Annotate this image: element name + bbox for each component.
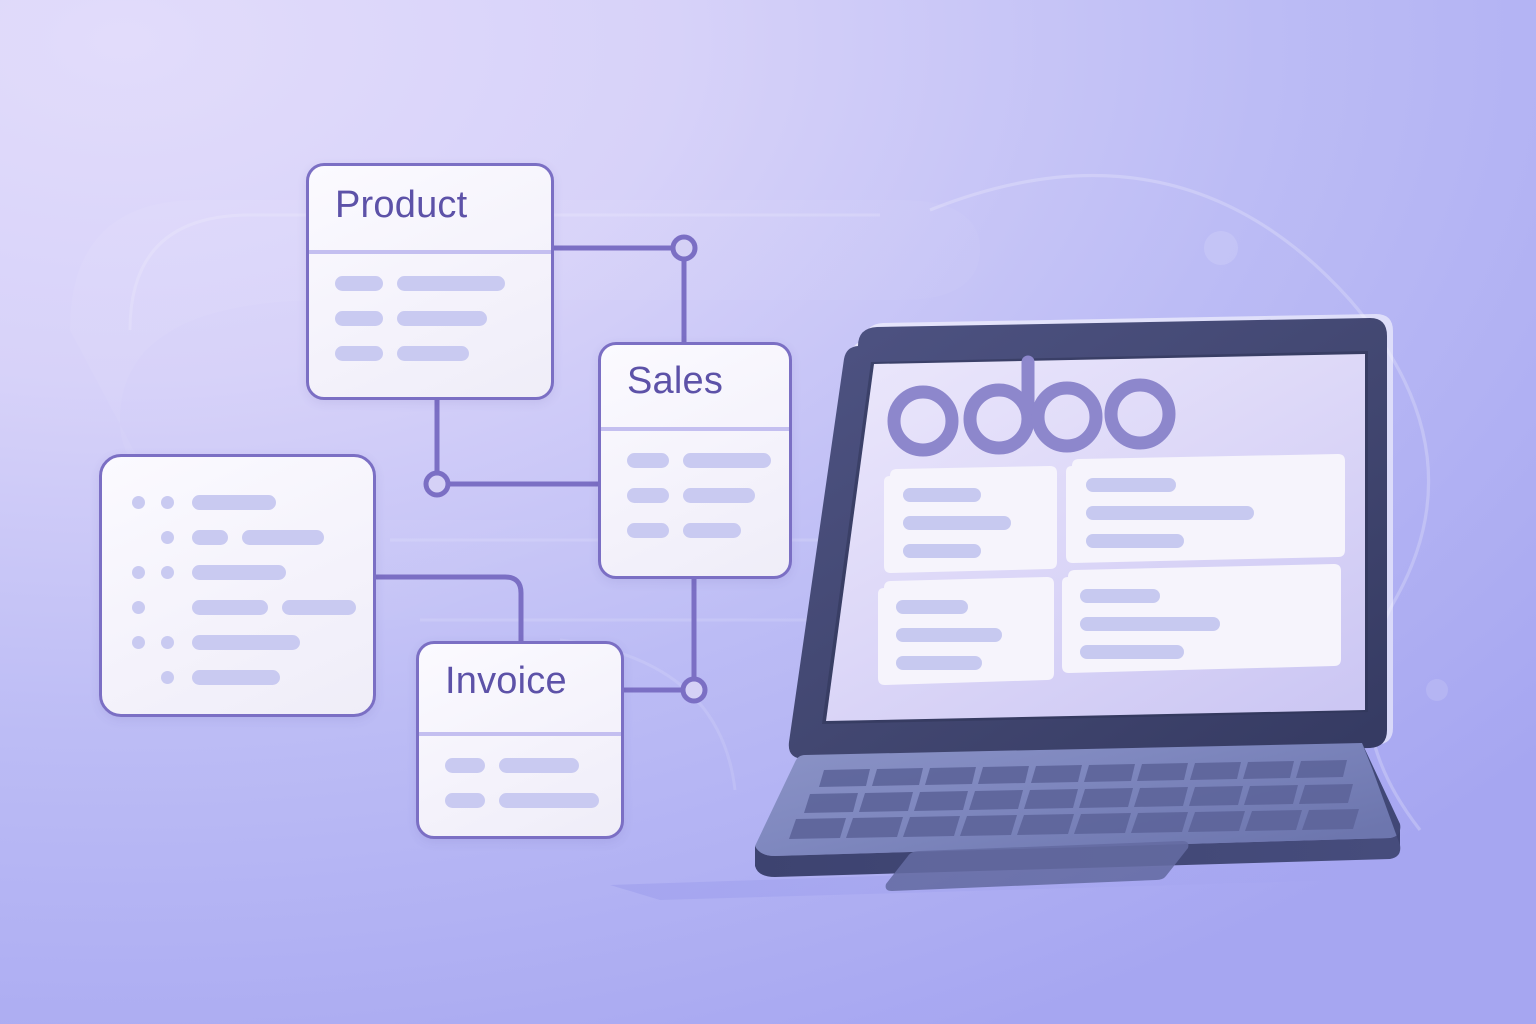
list-bar: [192, 530, 228, 545]
node-invoice-fields: [419, 758, 621, 828]
field-row: [309, 346, 551, 361]
field-row: [419, 793, 621, 808]
screen-card-1: [884, 466, 1057, 573]
illustration-canvas: Product Sales: [0, 0, 1536, 1024]
node-product-divider: [309, 250, 551, 254]
list-item: [102, 495, 373, 510]
list-item: [102, 670, 373, 685]
screen-card-4: [1062, 564, 1341, 673]
list-bar: [192, 635, 300, 650]
list-item: [102, 635, 373, 650]
list-bar: [192, 565, 286, 580]
junction-dot-b: [426, 473, 448, 495]
bullet-icon: [161, 566, 174, 579]
node-product[interactable]: Product: [306, 163, 554, 400]
junction-dot-a: [673, 237, 695, 259]
field-key-pill: [445, 758, 485, 773]
list-bar: [192, 670, 280, 685]
node-invoice[interactable]: Invoice: [416, 641, 624, 839]
node-product-title: Product: [309, 166, 551, 244]
field-row: [419, 758, 621, 773]
field-key-pill: [335, 346, 383, 361]
field-value-pill: [499, 758, 579, 773]
node-invoice-title: Invoice: [419, 644, 621, 718]
field-value-pill: [499, 793, 599, 808]
laptop-illustration: [600, 300, 1420, 900]
screen-card-3: [878, 577, 1054, 685]
field-row: [309, 311, 551, 326]
node-invoice-divider: [419, 732, 621, 736]
bullet-icon: [132, 566, 145, 579]
list-item: [102, 530, 373, 545]
bullet-icon: [161, 671, 174, 684]
node-list-items: [102, 495, 373, 705]
field-key-pill: [335, 276, 383, 291]
wire-list-to-invoice: [376, 577, 521, 641]
field-key-pill: [335, 311, 383, 326]
node-list[interactable]: [99, 454, 376, 717]
bullet-icon: [132, 601, 145, 614]
node-product-fields: [309, 276, 551, 381]
field-row: [309, 276, 551, 291]
screen-card-2: [1066, 454, 1345, 563]
bullet-icon: [132, 636, 145, 649]
field-value-pill: [397, 276, 505, 291]
bullet-icon: [161, 531, 174, 544]
field-value-pill: [397, 346, 469, 361]
list-item: [102, 600, 373, 615]
list-bar: [282, 600, 356, 615]
list-bar: [192, 495, 276, 510]
field-value-pill: [397, 311, 487, 326]
list-bar: [192, 600, 268, 615]
field-key-pill: [445, 793, 485, 808]
list-item: [102, 565, 373, 580]
bullet-icon: [161, 636, 174, 649]
bullet-icon: [132, 496, 145, 509]
list-bar: [242, 530, 324, 545]
bullet-icon: [161, 496, 174, 509]
